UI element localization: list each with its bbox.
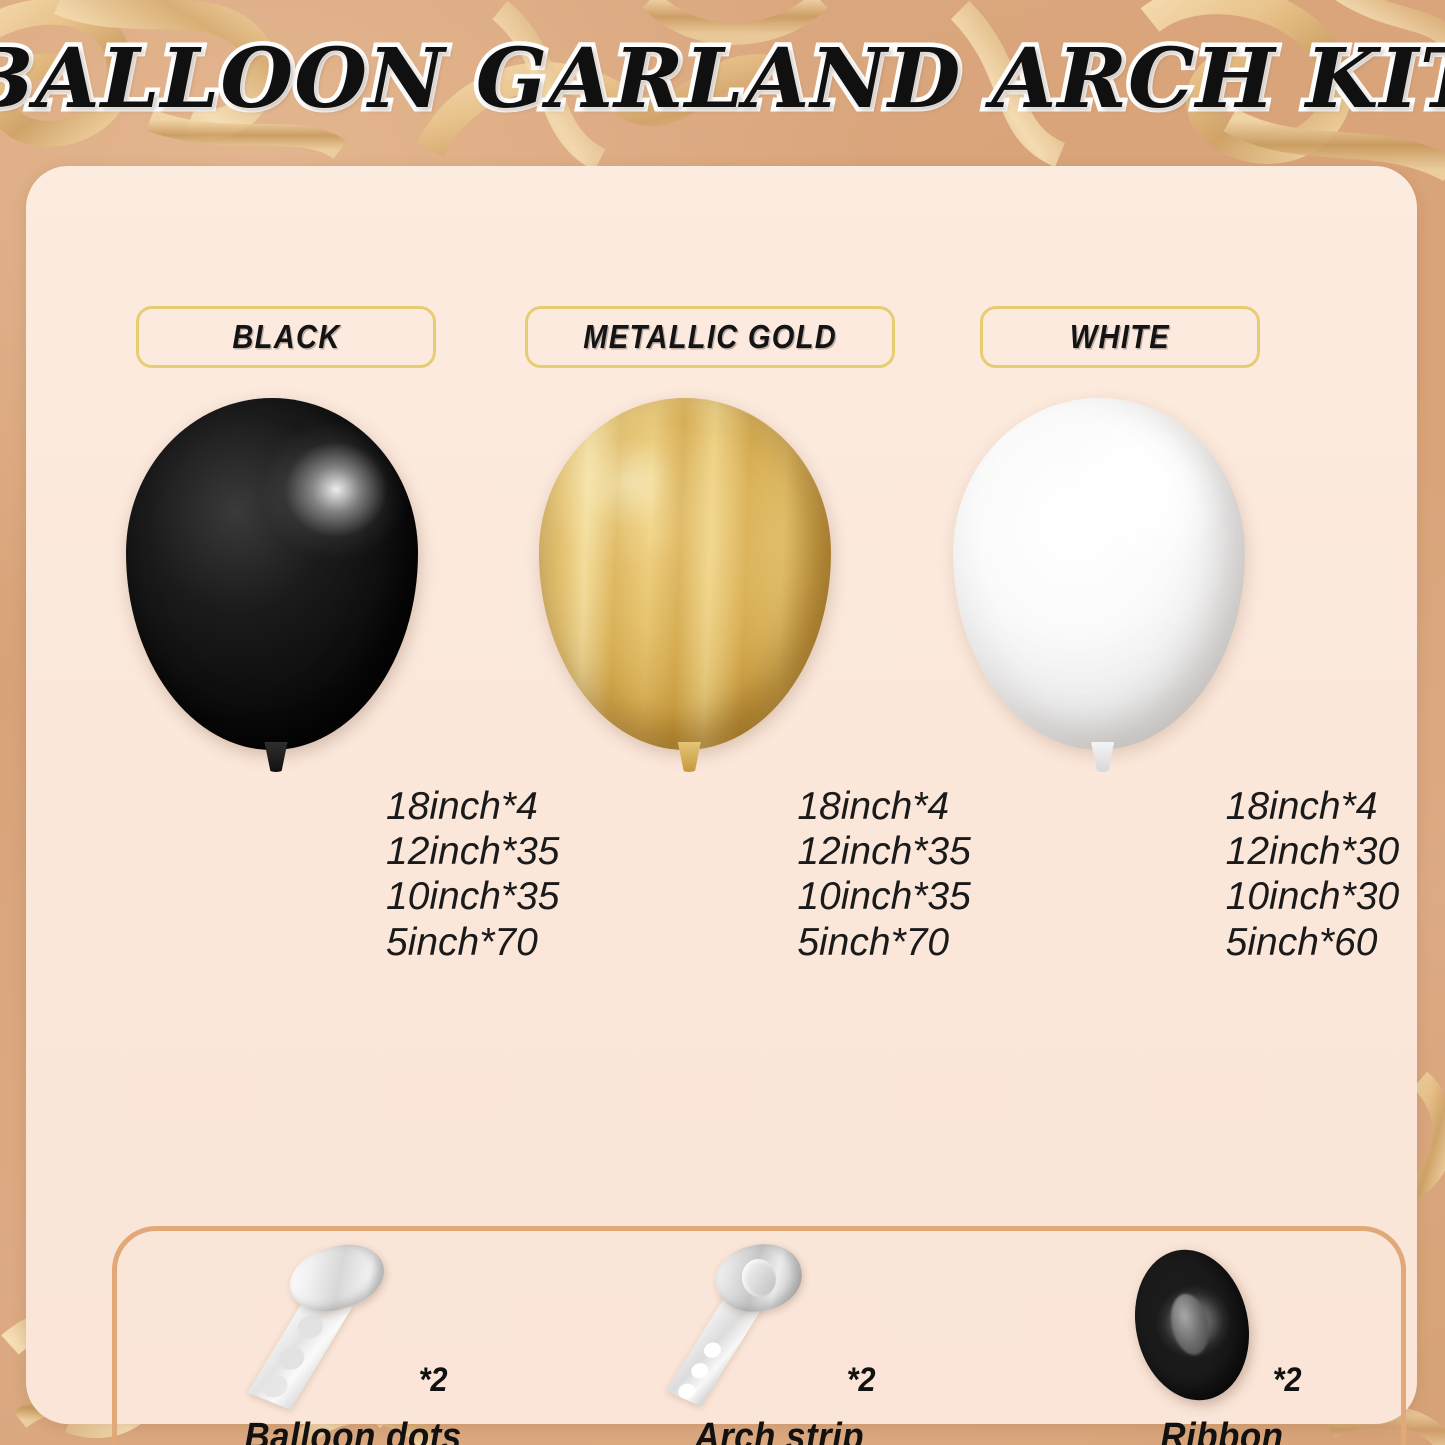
color-column-metallic-gold: METALLIC GOLD 18inch*4 12inch*35 10inch*…: [509, 306, 932, 1066]
black-balloon-body: [126, 398, 418, 750]
ribbon-spool-icon: [1118, 1243, 1288, 1413]
size-line: 12inch*30: [1226, 829, 1399, 874]
accessory-ribbon: *2 Ribbon: [973, 1231, 1401, 1445]
white-balloon-icon: [953, 398, 1253, 788]
color-column-black: BLACK 18inch*4 12inch*35 10inch*35 5inch…: [86, 306, 509, 1066]
size-line: 18inch*4: [1226, 784, 1399, 829]
accessory-quantity: *2: [1273, 1361, 1302, 1400]
color-label-metallic-gold: METALLIC GOLD: [525, 306, 895, 368]
arch-strip-roll-icon: [690, 1243, 860, 1413]
gold-balloon-body: [539, 398, 831, 750]
ribbon-spool-body: [1121, 1239, 1262, 1411]
color-label-black-text: BLACK: [232, 318, 340, 356]
accessory-quantity: *2: [419, 1361, 448, 1400]
size-list-white: 18inch*4 12inch*30 10inch*30 5inch*60: [1226, 784, 1399, 965]
color-columns: BLACK 18inch*4 12inch*35 10inch*35 5inch…: [86, 306, 1356, 1066]
size-line: 10inch*30: [1226, 874, 1399, 919]
white-balloon-body: [953, 398, 1245, 750]
glue-dots-roll-icon: [267, 1243, 437, 1413]
color-label-metallic-gold-text: METALLIC GOLD: [583, 318, 837, 356]
black-balloon-icon: [126, 398, 426, 788]
color-column-white: WHITE 18inch*4 12inch*30 10inch*30 5inch…: [933, 306, 1356, 1066]
accessories-box: *2 Balloon dots *2 Arch strip *2 Ribbon: [112, 1226, 1406, 1445]
accessory-arch-strip: *2 Arch strip: [545, 1231, 973, 1445]
gold-balloon-icon: [539, 398, 839, 788]
page-title-text: BALLOON GARLAND ARCH KIT: [0, 31, 1445, 127]
color-label-black: BLACK: [136, 306, 436, 368]
accessory-label: Arch strip: [694, 1416, 864, 1445]
color-label-white-text: WHITE: [1070, 318, 1170, 356]
accessory-label: Ribbon: [1160, 1416, 1283, 1445]
infographic-canvas: BALLOON GARLAND ARCH KIT BLACK 18inch*4 …: [0, 0, 1445, 1445]
accessory-quantity: *2: [847, 1361, 876, 1400]
color-label-white: WHITE: [980, 306, 1260, 368]
size-line: 5inch*60: [1226, 920, 1399, 965]
page-title: BALLOON GARLAND ARCH KIT: [0, 24, 1445, 134]
product-card: BLACK 18inch*4 12inch*35 10inch*35 5inch…: [26, 166, 1417, 1424]
accessory-balloon-dots: *2 Balloon dots: [117, 1231, 545, 1445]
accessory-label: Balloon dots: [244, 1416, 461, 1445]
